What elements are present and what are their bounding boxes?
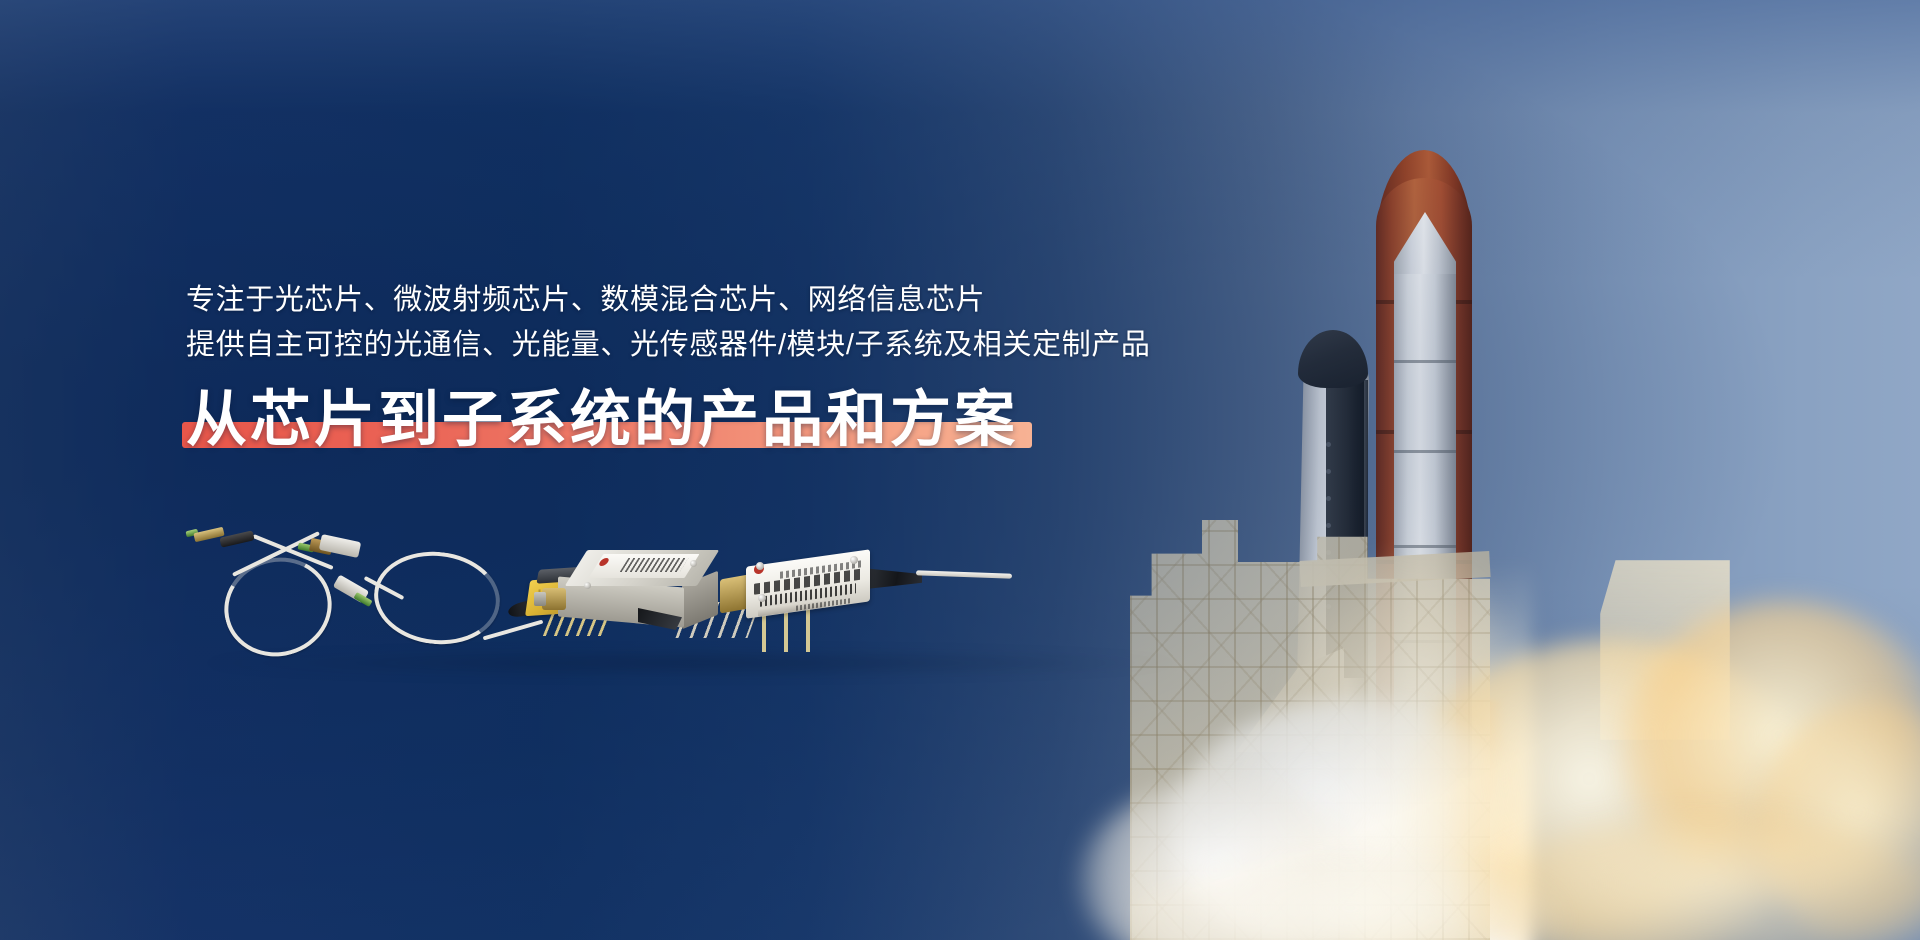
module-screw <box>690 560 697 567</box>
product-mini-optical-receiver-module <box>720 546 1010 666</box>
fiber-connector-boot <box>219 530 254 547</box>
product-showcase-row <box>180 520 1240 670</box>
banner-subtitle-line-2: 提供自主可控的光通信、光能量、光传感器件/模块/子系统及相关定制产品 <box>186 323 1306 368</box>
receiver-output-fiber <box>916 570 1012 578</box>
pigtail-fiber-loop <box>370 546 505 651</box>
left-vignette-overlay <box>0 0 1920 940</box>
receiver-screw <box>850 556 858 564</box>
banner-subtitle-line-1: 专注于光芯片、微波射频芯片、数模混合芯片、网络信息芯片 <box>186 278 1306 323</box>
receiver-fiber-boot <box>866 566 922 590</box>
receiver-screw <box>756 562 764 570</box>
module-screw <box>584 582 591 589</box>
banner-headline: 从芯片到子系统的产品和方案 <box>186 385 1018 453</box>
headline-group: 从芯片到子系统的产品和方案 <box>186 385 1018 453</box>
receiver-screw <box>758 594 766 602</box>
module-label-barcode <box>620 558 689 572</box>
sma-connector-tip <box>534 592 546 606</box>
hero-banner: 专注于光芯片、微波射频芯片、数模混合芯片、网络信息芯片 提供自主可控的光通信、光… <box>0 0 1920 940</box>
banner-copy-block: 专注于光芯片、微波射频芯片、数模混合芯片、网络信息芯片 提供自主可控的光通信、光… <box>186 278 1306 454</box>
